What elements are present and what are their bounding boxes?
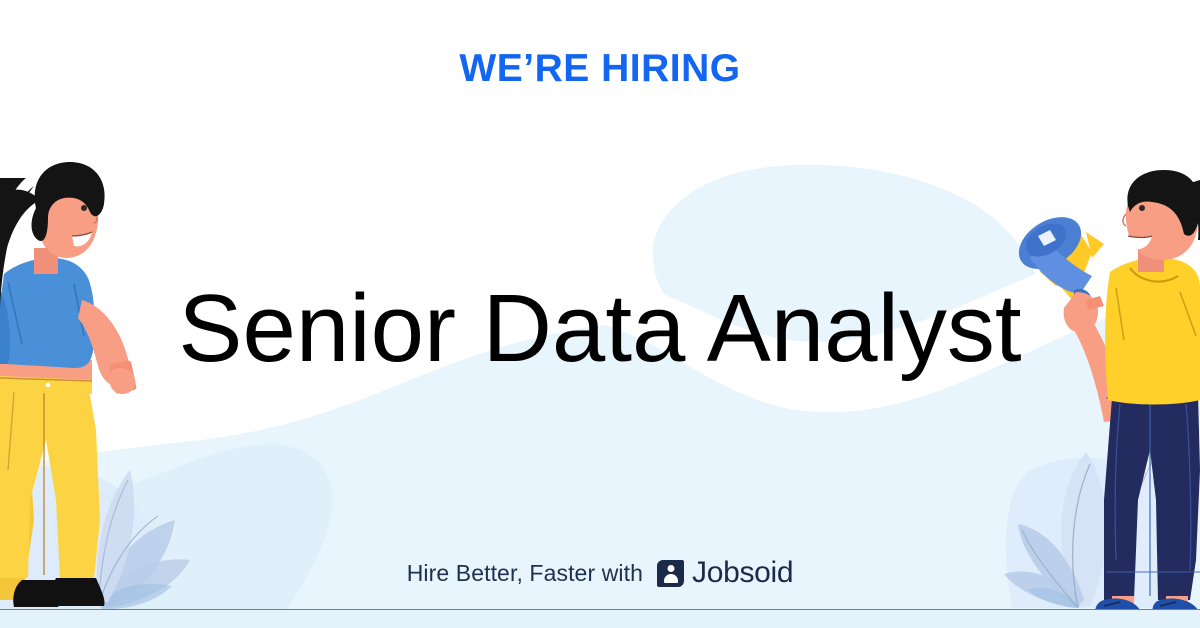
job-title: Senior Data Analyst [0, 279, 1200, 380]
footer-band [0, 610, 1200, 628]
jobsoid-wordmark: Jobsoid [692, 556, 793, 590]
footer-branding-row: Hire Better, Faster with Jobsoid [0, 556, 1200, 590]
jobsoid-person-badge-icon [657, 560, 684, 587]
hiring-poster: WE’RE HIRING Senior Data Analyst Hire Be… [0, 0, 1200, 628]
footer-tagline: Hire Better, Faster with [407, 560, 643, 587]
jobsoid-logo[interactable]: Jobsoid [657, 556, 793, 590]
hiring-eyebrow-label: WE’RE HIRING [0, 48, 1200, 91]
